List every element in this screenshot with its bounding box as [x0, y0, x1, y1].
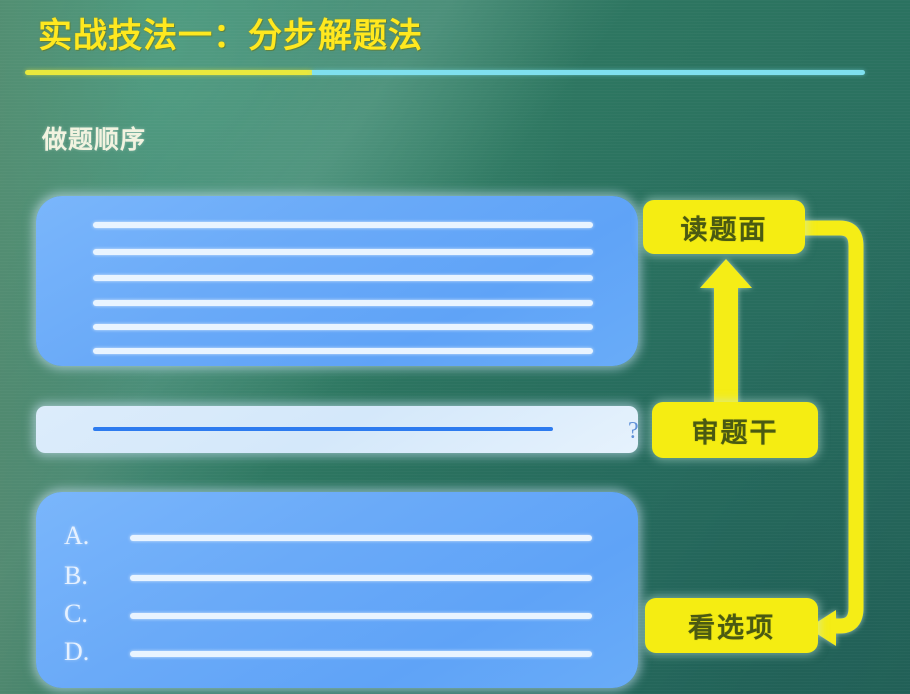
stem-text-line — [93, 222, 593, 228]
stem-text-line — [93, 275, 593, 281]
option-label-b: B. — [64, 561, 88, 591]
question-stem-panel — [36, 196, 638, 366]
option-row: A. — [36, 524, 638, 554]
stem-text-line — [93, 324, 593, 330]
flow-step-view-options[interactable]: 看选项 — [645, 598, 818, 653]
question-blank-panel: ? — [36, 406, 638, 453]
title-underline-blue-segment — [312, 70, 865, 75]
option-text-line — [130, 575, 592, 581]
stem-text-line — [93, 300, 593, 306]
title-underline-yellow-segment — [25, 70, 312, 75]
stem-text-line — [93, 249, 593, 255]
option-row: D. — [36, 640, 638, 670]
page-title: 实战技法一：分步解题法 — [38, 8, 423, 57]
slide-canvas: 实战技法一：分步解题法 做题顺序 ? A. B. C. D. — [0, 0, 910, 694]
option-label-a: A. — [64, 521, 89, 551]
flow-step-read-question[interactable]: 读题面 — [643, 200, 805, 254]
option-text-line — [130, 651, 592, 657]
options-panel: A. B. C. D. — [36, 492, 638, 688]
section-subtitle: 做题顺序 — [42, 120, 146, 156]
option-text-line — [130, 535, 592, 541]
option-label-d: D. — [64, 637, 89, 667]
blank-underline — [93, 427, 553, 431]
stem-text-line — [93, 348, 593, 354]
title-underline — [25, 70, 865, 75]
option-label-c: C. — [64, 599, 88, 629]
option-row: B. — [36, 564, 638, 594]
question-mark-icon: ? — [628, 418, 639, 445]
option-row: C. — [36, 602, 638, 632]
flow-step-examine-stem[interactable]: 审题干 — [652, 402, 818, 458]
option-text-line — [130, 613, 592, 619]
